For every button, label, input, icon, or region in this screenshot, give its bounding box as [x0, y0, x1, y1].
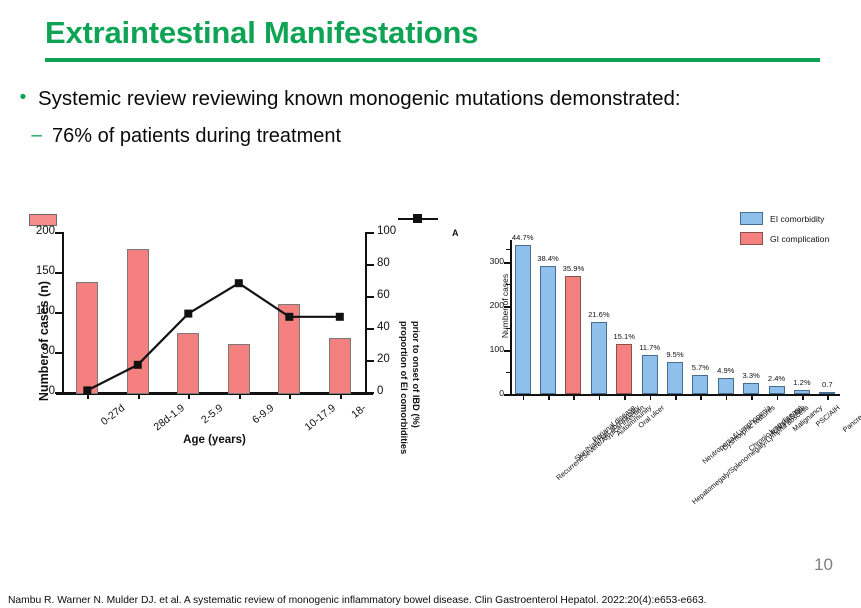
- panel-b-x-tick: [726, 396, 728, 400]
- bullet-level-1: • Systemic review reviewing known monoge…: [8, 86, 768, 112]
- panel-b-bar: [515, 245, 531, 394]
- panel-b-data-label: 15.1%: [604, 332, 644, 341]
- panel-a-y2-tick-label: 40: [377, 321, 390, 333]
- chart-panel-b: Number of cases EI comorbidity GI compli…: [462, 206, 861, 472]
- panel-a-y2-tick: [367, 328, 374, 330]
- panel-b-data-label: 9.5%: [655, 350, 695, 359]
- panel-a-x-tick-label: 18-: [349, 402, 368, 421]
- panel-a-y-tick: [55, 392, 62, 394]
- panel-b-x-tick: [624, 396, 626, 400]
- panel-b-x-tick: [650, 396, 652, 400]
- panel-b-data-label: 21.6%: [579, 310, 619, 319]
- panel-a-y2-tick: [367, 232, 374, 234]
- panel-a-y2-axis-label-line2: prior to onset of IBD (%): [410, 321, 421, 428]
- panel-b-bar: [718, 378, 734, 394]
- body-content: • Systemic review reviewing known monoge…: [8, 86, 768, 150]
- panel-b-data-label: 0.7: [807, 380, 847, 389]
- panel-a-y2-tick: [367, 296, 374, 298]
- chart-panel-a: A Number of cases (n) proportion of EI c…: [0, 206, 462, 472]
- panel-a-y2-tick: [367, 264, 374, 266]
- panel-a-legend-line-swatch: [398, 214, 438, 224]
- panel-a-x-tick-label: 2-5.9: [199, 402, 225, 426]
- panel-b-x-tick: [548, 396, 550, 400]
- panel-a-y-tick: [55, 272, 62, 274]
- panel-a-x-tick: [138, 394, 140, 399]
- panel-a-y2-tick-label: 60: [377, 289, 390, 301]
- bullet-level-1-text: Systemic review reviewing known monogeni…: [38, 86, 768, 112]
- panel-a-y2-tick-label: 100: [377, 225, 396, 237]
- panel-a-x-tick: [239, 394, 241, 399]
- panel-a-y-tick: [55, 312, 62, 314]
- panel-b-y-tick-minor: [506, 249, 510, 250]
- panel-b-x-tick: [700, 396, 702, 400]
- legend-label-ei: EI comorbidity: [770, 214, 824, 224]
- panel-b-bar: [692, 375, 708, 394]
- panel-b-bar: [642, 355, 658, 394]
- title-divider: [45, 58, 820, 62]
- panel-b-bar: [819, 392, 835, 394]
- panel-a-y-tick-label: 200: [36, 225, 55, 237]
- panel-b-x-tick: [573, 396, 575, 400]
- panel-a-y-tick-label: 100: [36, 305, 55, 317]
- panel-b-x-tick: [777, 396, 779, 400]
- panel-b-y-tick: [504, 306, 510, 308]
- panel-b-data-label: 35.9%: [553, 264, 593, 273]
- panel-a-y-tick: [55, 232, 62, 234]
- legend-item-ei: EI comorbidity: [740, 212, 829, 225]
- panel-b-y-tick-label: 200: [490, 300, 504, 310]
- legend-swatch-ei: [740, 212, 763, 225]
- panel-a-y-axis-label: Number of cases (n): [37, 261, 51, 421]
- panel-a-x-tick: [289, 394, 291, 399]
- panel-a-y-tick: [55, 352, 62, 354]
- citation-text: Nambu R. Warner N. Mulder DJ. et al. A s…: [8, 595, 706, 606]
- panel-b-data-label: 44.7%: [503, 233, 543, 242]
- panel-b-y-tick-label: 0: [499, 388, 504, 398]
- panel-b-y-tick: [504, 394, 510, 396]
- panel-b-x-tick: [599, 396, 601, 400]
- panel-b-bar: [794, 390, 810, 394]
- panel-b-x-tick: [827, 396, 829, 400]
- panel-a-y-tick-label: 0: [49, 385, 55, 397]
- panel-a-letter: A: [452, 228, 459, 238]
- panel-a-y2-axis-label: proportion of EI comorbidities prior to …: [398, 321, 410, 454]
- panel-b-data-label: 38.4%: [528, 254, 568, 263]
- panel-b-bar: [743, 383, 759, 394]
- panel-b-bar: [540, 266, 556, 394]
- panel-a-x-tick-label: 6-9.9: [250, 402, 276, 426]
- panel-a-x-tick-label: 10-17.9: [303, 402, 338, 433]
- panel-b-y-tick-minor: [506, 372, 510, 373]
- panel-b-bar: [565, 276, 581, 394]
- panel-b-plot-area: 0100200300 44.7%38.4%35.9%21.6%15.1%11.7…: [510, 240, 840, 396]
- panel-b-y-tick: [504, 262, 510, 264]
- panel-b-y-axis: [510, 240, 512, 396]
- panel-a-x-tick: [188, 394, 190, 399]
- panel-a-y2-tick-label: 0: [377, 385, 383, 397]
- dash-marker: –: [8, 124, 52, 148]
- page-title: Extraintestinal Manifestations: [45, 16, 825, 50]
- panel-a-x-axis-title: Age (years): [62, 434, 367, 446]
- panel-b-x-tick-label: Pancreatitis: [841, 403, 861, 434]
- panel-a-y-tick-label: 50: [42, 345, 55, 357]
- panel-b-x-tick: [523, 396, 525, 400]
- panel-a-y2-tick: [367, 360, 374, 362]
- panel-a-y2-tick-label: 80: [377, 257, 390, 269]
- panel-b-y-tick-label: 300: [490, 256, 504, 266]
- bullet-level-2: – 76% of patients during treatment: [8, 124, 768, 150]
- figure-area: A Number of cases (n) proportion of EI c…: [0, 206, 861, 476]
- panel-b-x-tick: [751, 396, 753, 400]
- panel-b-x-tick: [675, 396, 677, 400]
- panel-b-y-tick-minor: [506, 284, 510, 285]
- panel-a-y2-tick: [367, 392, 374, 394]
- title-block: Extraintestinal Manifestations: [45, 16, 825, 62]
- panel-b-x-tick: [802, 396, 804, 400]
- panel-a-y2-tick-label: 20: [377, 353, 390, 365]
- panel-a-line-series: [62, 232, 367, 394]
- bullet-level-2-text: 76% of patients during treatment: [52, 124, 768, 150]
- panel-b-y-tick-label: 100: [490, 344, 504, 354]
- panel-a-x-tick: [87, 394, 89, 399]
- panel-a-y2-axis-label-line1: proportion of EI comorbidities: [398, 321, 409, 454]
- bullet-marker: •: [8, 86, 38, 111]
- panel-a-x-tick-label: 0-27d: [99, 402, 128, 428]
- panel-a-x-tick: [340, 394, 342, 399]
- panel-a-plot-area: 050100150200 020406080100 0-27d28d-1.92-…: [62, 232, 367, 394]
- panel-b-y-tick-minor: [506, 328, 510, 329]
- panel-a-y-tick-label: 150: [36, 265, 55, 277]
- panel-b-y-tick: [504, 350, 510, 352]
- slide-number: 10: [814, 555, 833, 575]
- panel-a-x-tick-label: 28d-1.9: [151, 402, 186, 433]
